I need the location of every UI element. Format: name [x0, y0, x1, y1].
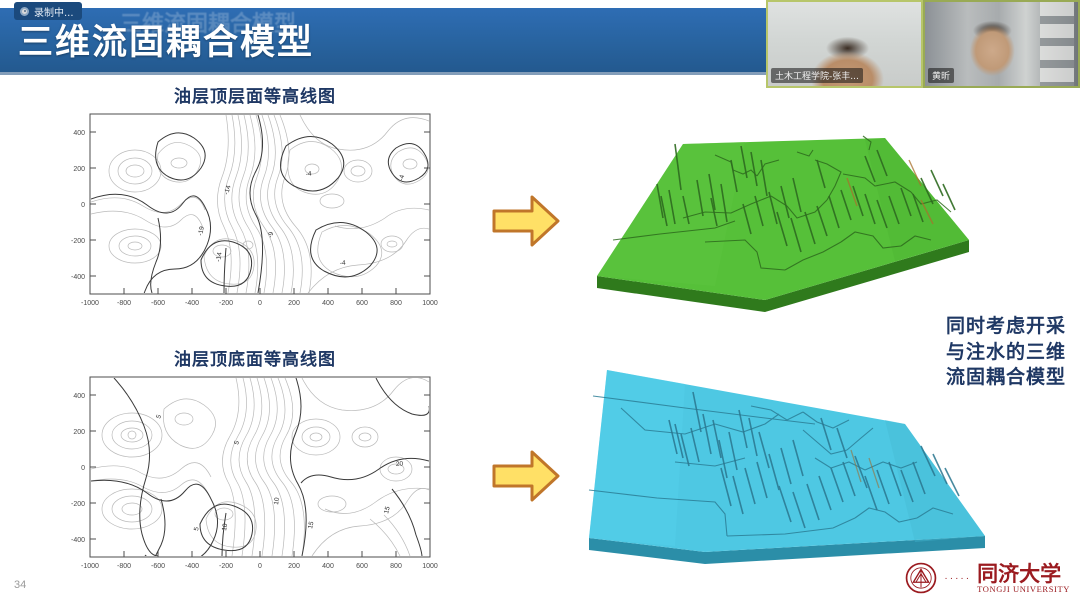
svg-text:-1000: -1000: [81, 300, 99, 307]
svg-text:1000: 1000: [422, 300, 438, 307]
svg-text:200: 200: [288, 563, 300, 570]
contour-svg-top: 400 200 0 -200 -400 -1000 -800 -600 -400: [40, 106, 470, 318]
page-number: 34: [14, 579, 26, 591]
svg-text:10: 10: [273, 497, 281, 506]
video-tile-participant[interactable]: 黄昕: [923, 0, 1080, 88]
svg-text:20: 20: [396, 460, 404, 468]
svg-text:-4: -4: [305, 170, 312, 178]
svg-text:-400: -400: [185, 563, 199, 570]
caption-line-3: 流固耦合模型: [946, 365, 1066, 391]
chart-title: 油层顶层面等高线图: [40, 82, 470, 107]
svg-text:0: 0: [81, 202, 85, 209]
svg-text:-600: -600: [151, 563, 165, 570]
logo-dots: ·····: [944, 573, 971, 584]
side-caption: 同时考虑开采 与注水的三维 流固耦合模型: [946, 314, 1066, 391]
page-title: 三维流固耦合模型: [18, 14, 314, 65]
svg-text:-800: -800: [117, 300, 131, 307]
svg-text:-400: -400: [71, 537, 85, 544]
arrow-top: [490, 190, 562, 252]
contour-chart-top: 油层顶层面等高线图 400 200 0 -200 -400: [40, 82, 470, 322]
logo-english-name: TONGJI UNIVERSITY: [977, 584, 1070, 594]
svg-text:0: 0: [258, 563, 262, 570]
svg-text:-200: -200: [71, 238, 85, 245]
caption-line-2: 与注水的三维: [946, 340, 1066, 366]
svg-text:400: 400: [73, 393, 85, 400]
svg-text:600: 600: [356, 300, 368, 307]
svg-text:1000: 1000: [422, 563, 438, 570]
caption-line-1: 同时考虑开采: [946, 314, 1066, 340]
svg-text:400: 400: [322, 300, 334, 307]
svg-text:0: 0: [81, 465, 85, 472]
svg-text:-400: -400: [185, 300, 199, 307]
contour-chart-bottom: 油层顶底面等高线图 400 200 0 -200 -400: [40, 345, 470, 587]
tongji-university-logo: ····· 同济大学 TONGJI UNIVERSITY: [904, 561, 1070, 595]
svg-text:400: 400: [322, 563, 334, 570]
svg-text:800: 800: [390, 563, 402, 570]
svg-text:200: 200: [73, 166, 85, 173]
chart-plot-area: 400 200 0 -200 -400 -1000 -800 -600 -400…: [40, 369, 470, 583]
svg-text:200: 200: [288, 300, 300, 307]
logo-text: 同济大学 TONGJI UNIVERSITY: [977, 563, 1070, 594]
chart-title: 油层顶底面等高线图: [40, 345, 470, 370]
svg-text:800: 800: [390, 300, 402, 307]
model-3d-blue: [565, 358, 995, 583]
svg-text:600: 600: [356, 563, 368, 570]
right-arrow-icon: [490, 445, 562, 507]
slide-root: 三维流固耦合模型 三维流固耦合模型 录制中... 土木工程学院-张丰... 黄昕…: [0, 0, 1080, 599]
svg-text:200: 200: [73, 429, 85, 436]
right-arrow-icon: [490, 190, 562, 252]
svg-text:-600: -600: [151, 300, 165, 307]
recording-badge: 录制中...: [14, 2, 82, 20]
video-tile-label: 土木工程学院-张丰...: [771, 68, 863, 83]
record-dot-icon: [20, 7, 29, 16]
model-3d-green: [565, 100, 995, 315]
recording-label: 录制中...: [34, 4, 74, 19]
university-seal-icon: [904, 561, 938, 595]
logo-chinese-name: 同济大学: [977, 563, 1061, 584]
video-strip: 土木工程学院-张丰... 黄昕: [766, 0, 1080, 88]
svg-text:-4: -4: [340, 260, 347, 267]
chart-plot-area: 400 200 0 -200 -400 -1000 -800 -600 -400: [40, 106, 470, 318]
svg-text:-200: -200: [219, 300, 233, 307]
arrow-bottom: [490, 445, 562, 507]
contour-svg-bottom: 400 200 0 -200 -400 -1000 -800 -600 -400…: [40, 369, 470, 583]
svg-text:0: 0: [258, 300, 262, 307]
blue-reservoir-model: [565, 358, 995, 583]
video-tile-presenter[interactable]: 土木工程学院-张丰...: [766, 0, 923, 88]
svg-text:400: 400: [73, 130, 85, 137]
svg-text:-800: -800: [117, 563, 131, 570]
svg-text:-400: -400: [71, 274, 85, 281]
svg-text:-200: -200: [219, 563, 233, 570]
svg-text:-200: -200: [71, 501, 85, 508]
video-tile-label: 黄昕: [928, 68, 954, 83]
svg-text:-1000: -1000: [81, 563, 99, 570]
green-reservoir-model: [565, 100, 995, 315]
